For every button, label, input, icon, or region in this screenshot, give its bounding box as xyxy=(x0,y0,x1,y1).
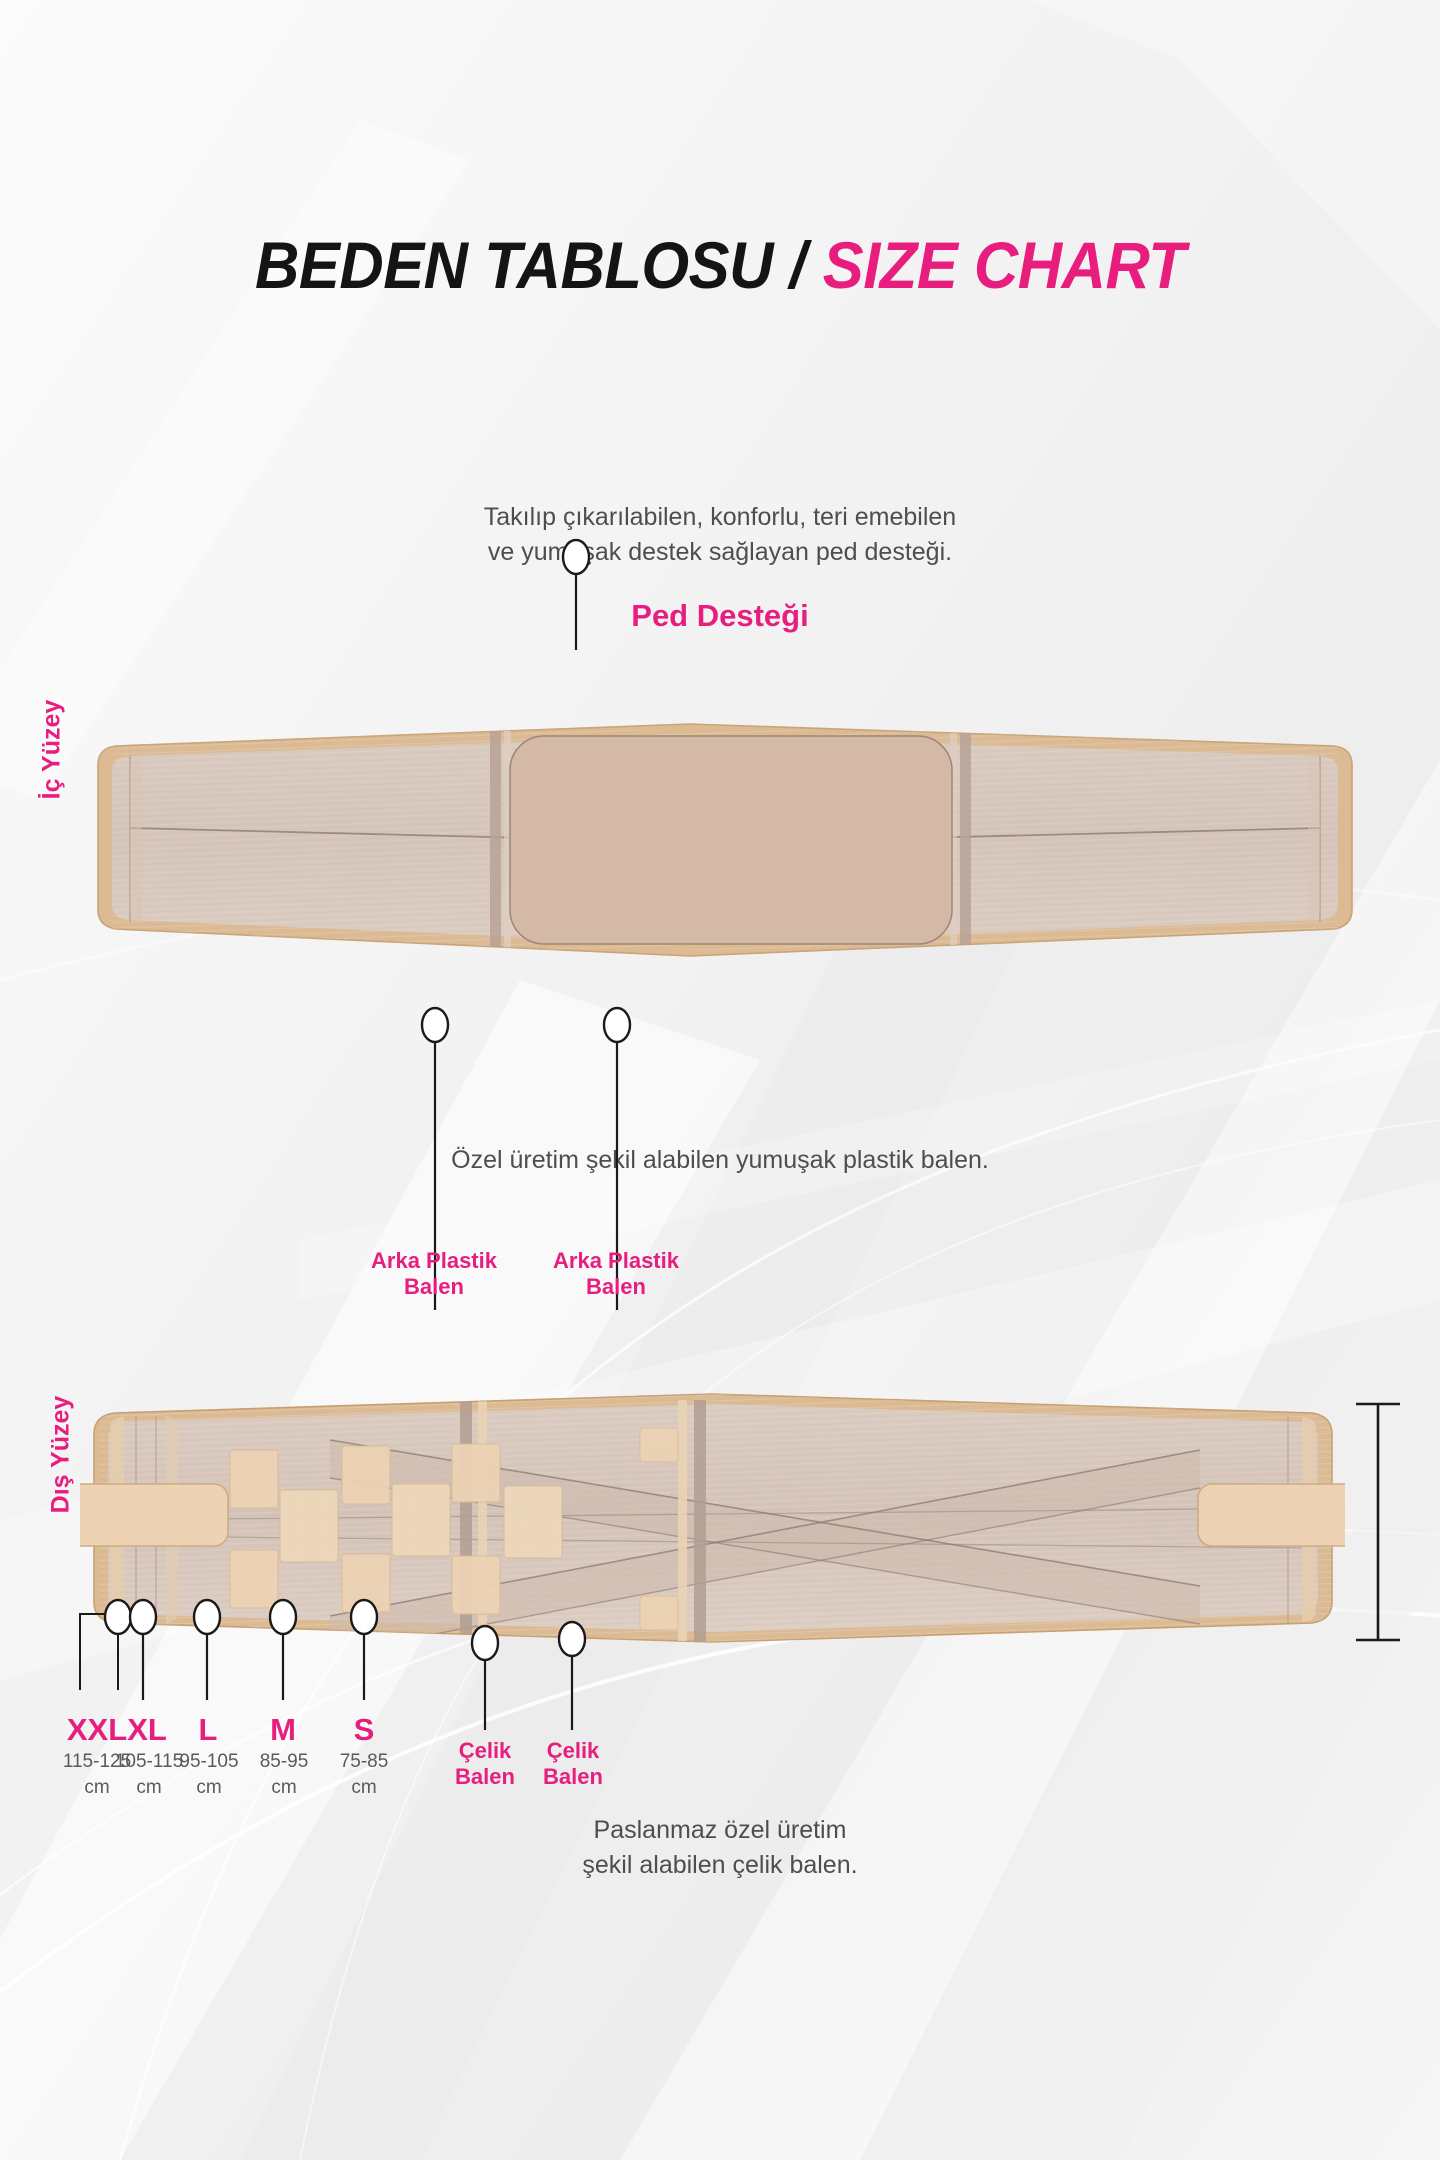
steel-bone-description: Paslanmaz özel üretim şekil alabilen çel… xyxy=(340,1813,1100,1882)
plastic-bone-description: Özel üretim şekil alabilen yumuşak plast… xyxy=(240,1143,1200,1178)
page-title-accent: SIZE CHART xyxy=(823,228,1186,302)
size-label-s: S xyxy=(322,1714,406,1745)
page-title: BEDEN TABLOSU / SIZE CHART xyxy=(0,232,1440,298)
size-label-l: L xyxy=(166,1714,250,1745)
steel-bone-callout-right: Çelik Balen xyxy=(508,1738,638,1790)
height-dimension-line xyxy=(1356,1404,1400,1640)
pad-description: Takılıp çıkarılabilen, konforlu, teri em… xyxy=(320,500,1120,569)
outer-surface-label: Dış Yüzey xyxy=(47,1380,76,1530)
page-title-primary: BEDEN TABLOSU / xyxy=(255,228,823,302)
size-chart-page: BEDEN TABLOSU / SIZE CHART Takılıp çıkar… xyxy=(0,0,1440,2160)
size-label-m: M xyxy=(240,1714,326,1745)
size-unit-s: cm xyxy=(314,1776,414,1799)
inner-surface-label: İç Yüzey xyxy=(38,680,67,820)
outer-surface-belt-illustration xyxy=(80,1372,1345,1662)
inner-surface-belt-illustration xyxy=(90,710,1360,970)
pad-callout-label: Ped Desteği xyxy=(420,598,1020,635)
size-range-s: 75-85 xyxy=(314,1750,414,1773)
plastic-bone-callout-right: Arka Plastik Balen xyxy=(500,1248,732,1300)
